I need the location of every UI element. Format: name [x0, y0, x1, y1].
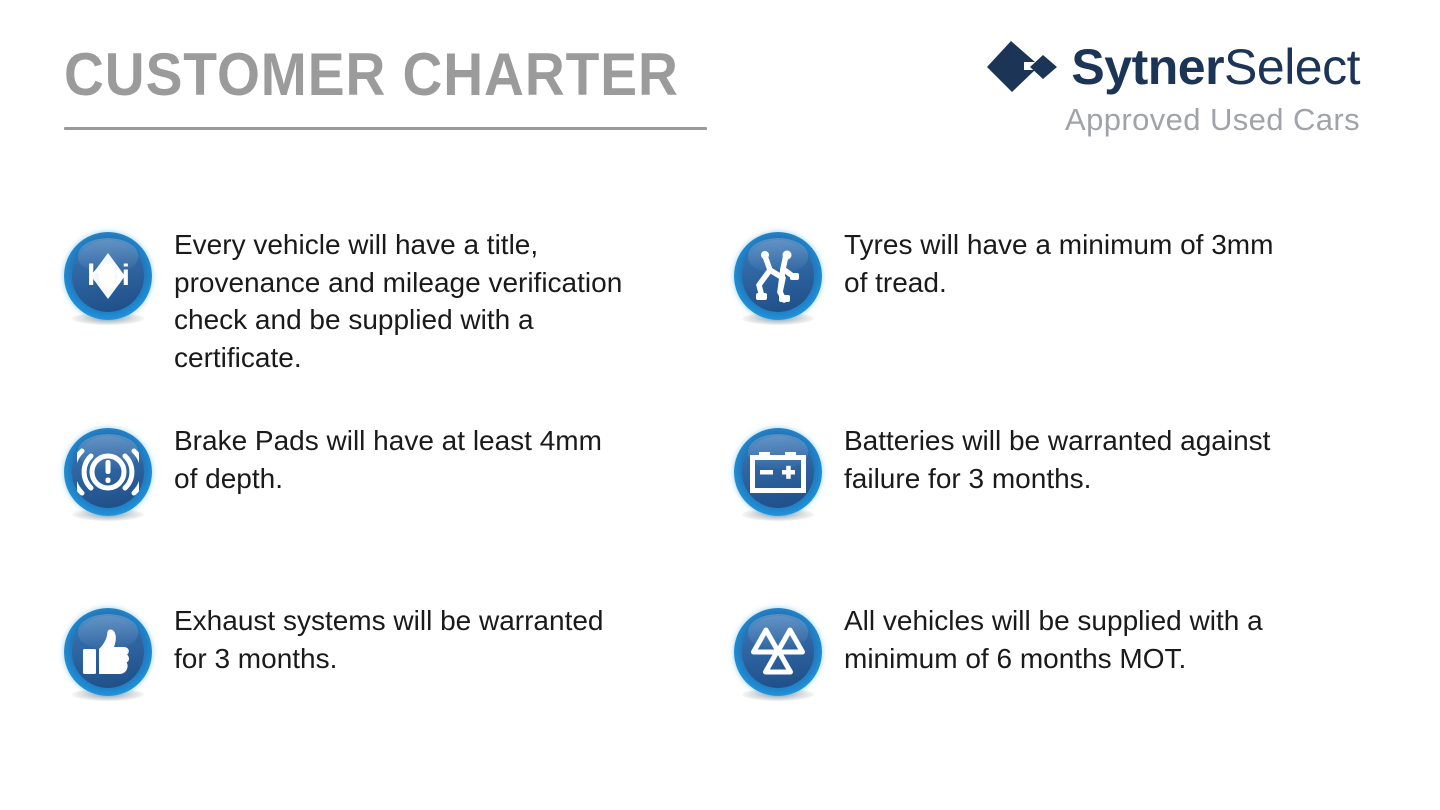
page-header: CUSTOMER CHARTER SytnerSelect Approved U…: [0, 0, 1440, 175]
tyre-tread-icon: [734, 232, 822, 320]
hpi-wordmark: hpi: [64, 261, 152, 291]
charter-item-hpi: hpi Every vehicle will have a title, pro…: [64, 226, 624, 376]
hpi-check-icon: hpi: [64, 232, 152, 320]
icon-glyph: [734, 428, 822, 516]
logo-word-select: Select: [1224, 41, 1360, 93]
icon-orb: [734, 232, 822, 320]
charter-item-text: Brake Pads will have at least 4mm of dep…: [174, 422, 624, 497]
logo-word-sytner: Sytner: [1071, 41, 1224, 93]
charter-item-exhaust: Exhaust systems will be warranted for 3 …: [64, 602, 624, 696]
thumbs-up-icon: [64, 608, 152, 696]
title-underline-rule: [64, 127, 707, 130]
logo-row: SytnerSelect: [988, 36, 1360, 98]
mot-triangles-icon: [734, 608, 822, 696]
icon-orb: [64, 428, 152, 516]
charter-item-mot: All vehicles will be supplied with a min…: [734, 602, 1294, 696]
sytner-select-logo: SytnerSelect Approved Used Cars: [988, 36, 1360, 152]
car-battery-icon: [734, 428, 822, 516]
charter-item-text: Exhaust systems will be warranted for 3 …: [174, 602, 624, 677]
charter-items-grid: hpi Every vehicle will have a title, pro…: [0, 210, 1440, 770]
icon-orb: hpi: [64, 232, 152, 320]
charter-item-text: Batteries will be warranted against fail…: [844, 422, 1294, 497]
charter-item-text: All vehicles will be supplied with a min…: [844, 602, 1294, 677]
sytner-diamond-logo-icon: [985, 39, 1061, 95]
icon-glyph: [64, 608, 152, 696]
icon-orb: [734, 428, 822, 516]
icon-orb: [64, 608, 152, 696]
icon-glyph: [734, 608, 822, 696]
charter-item-batteries: Batteries will be warranted against fail…: [734, 422, 1294, 516]
charter-item-text: Every vehicle will have a title, provena…: [174, 226, 624, 376]
icon-glyph: [734, 232, 822, 320]
icon-glyph: [64, 428, 152, 516]
charter-item-text: Tyres will have a minimum of 3mm of trea…: [844, 226, 1294, 301]
page-title: CUSTOMER CHARTER: [64, 44, 679, 106]
icon-orb: [734, 608, 822, 696]
charter-item-brake-pads: Brake Pads will have at least 4mm of dep…: [64, 422, 624, 516]
logo-tagline: Approved Used Cars: [988, 102, 1360, 138]
charter-item-tyres: Tyres will have a minimum of 3mm of trea…: [734, 226, 1294, 320]
logo-wordmark: SytnerSelect: [1071, 41, 1360, 93]
brake-warning-icon: [64, 428, 152, 516]
